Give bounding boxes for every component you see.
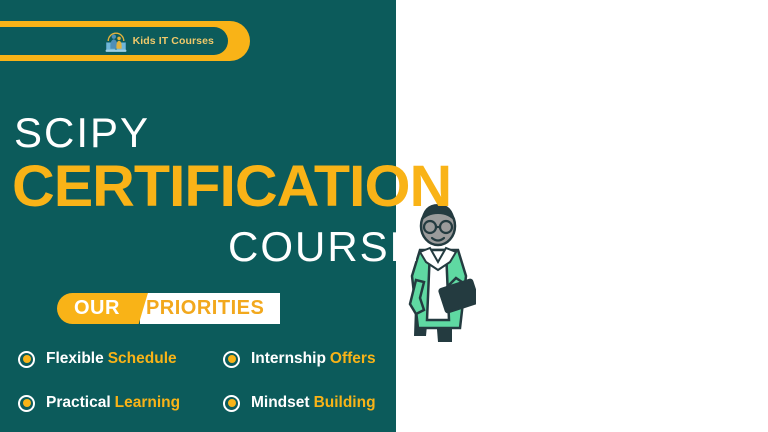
brand-name: Kids IT Courses: [133, 35, 214, 47]
priority-word-primary: Practical: [46, 394, 111, 412]
priority-word-primary: Mindset: [251, 394, 310, 412]
illustration-panel: TESTING... </>: [396, 0, 768, 432]
priorities-banner-rest: PRIORITIES: [140, 293, 280, 324]
priorities-banner-highlight: OUR: [57, 293, 133, 324]
list-item: Practical Learning: [18, 394, 223, 412]
bullet-dot-icon: [223, 351, 240, 368]
poster-canvas: TESTING... </>: [0, 0, 768, 432]
priority-word-secondary: Learning: [115, 394, 180, 412]
headline-line-3: COURSE: [228, 226, 420, 268]
list-item: Flexible Schedule: [18, 350, 223, 368]
bullet-dot-icon: [18, 395, 35, 412]
bullet-dot-icon: [18, 351, 35, 368]
list-item: Mindset Building: [223, 394, 408, 412]
list-item: Internship Offers: [223, 350, 408, 368]
headline-line-2: CERTIFICATION: [12, 158, 451, 216]
priorities-banner: OUR PRIORITIES: [57, 293, 280, 324]
book-with-people-logo-icon: [103, 28, 129, 54]
priority-word-secondary: Building: [314, 394, 376, 412]
brand-logo[interactable]: Kids IT Courses: [0, 27, 228, 55]
bullet-dot-icon: [223, 395, 240, 412]
priority-word-secondary: Offers: [330, 350, 376, 368]
priority-word-primary: Flexible: [46, 350, 104, 368]
priority-word-primary: Internship: [251, 350, 326, 368]
headline-line-1: SCIPY: [14, 112, 150, 154]
priority-word-secondary: Schedule: [108, 350, 177, 368]
priorities-list: Flexible Schedule Internship Offers Prac…: [18, 350, 408, 412]
